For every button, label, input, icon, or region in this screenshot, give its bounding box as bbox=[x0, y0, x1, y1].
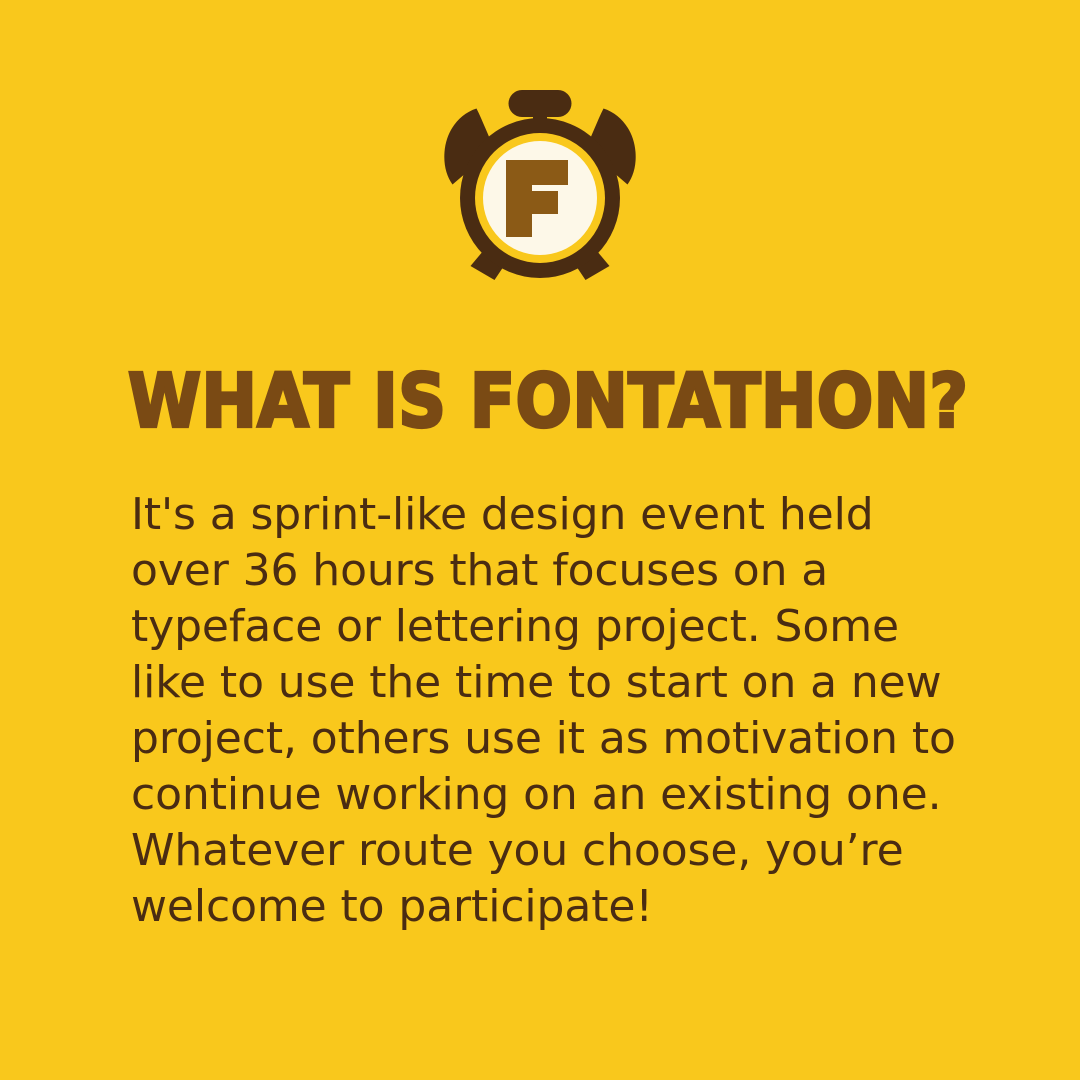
body-paragraph: It's a sprint-like design event held ove… bbox=[131, 487, 981, 935]
page-title: WHAT IS FONTATHON? bbox=[128, 362, 941, 440]
clock-top-button bbox=[509, 90, 572, 117]
body-line: Whatever route you choose, you’re bbox=[131, 823, 981, 879]
body-line: over 36 hours that focuses on a bbox=[131, 543, 981, 599]
alarm-clock-icon bbox=[432, 88, 648, 284]
body-line: project, others use it as motivation to bbox=[131, 711, 981, 767]
body-line: continue working on an existing one. bbox=[131, 767, 981, 823]
logo-block bbox=[0, 88, 1080, 288]
slide-canvas: WHAT IS FONTATHON? It's a sprint-like de… bbox=[0, 0, 1080, 1080]
body-line: It's a sprint-like design event held bbox=[131, 487, 981, 543]
body-line: like to use the time to start on a new bbox=[131, 655, 981, 711]
body-line: welcome to participate! bbox=[131, 879, 981, 935]
body-line: typeface or lettering project. Some bbox=[131, 599, 981, 655]
